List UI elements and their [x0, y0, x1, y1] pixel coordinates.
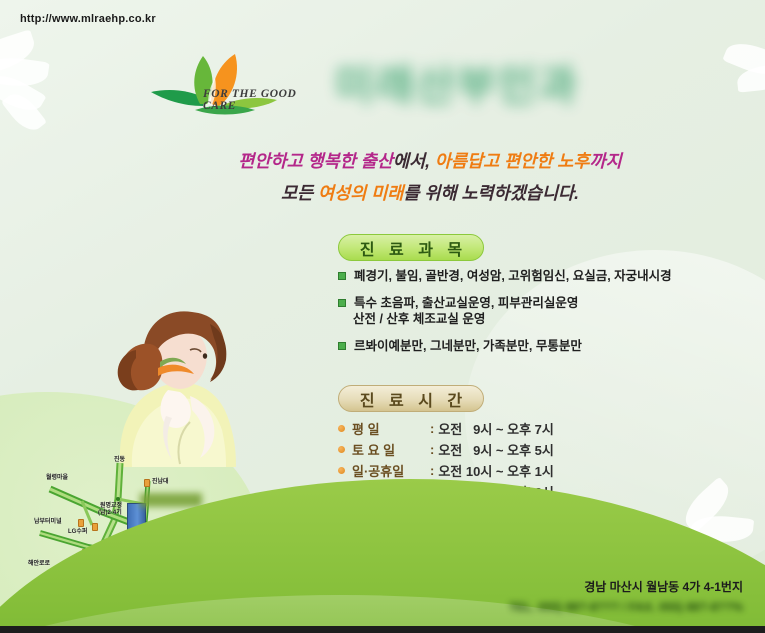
tagline-l1-c: 아름답고 편안한 노후 — [435, 151, 590, 171]
list-item: 르봐이예분만, 그네분만, 가족분만, 무통분만 — [338, 338, 748, 354]
map-label: (남)2·4기 — [98, 510, 122, 517]
leaf-decoration-icon — [0, 29, 39, 77]
departments-list: 폐경기, 불임, 골반경, 여성암, 고위험임신, 요실금, 자궁내시경 특수 … — [338, 268, 748, 365]
clinic-landing-page: http://www.mlraehp.co.kr FOR THE GOOD CA… — [0, 0, 765, 633]
hours-time-value: 오전 10시 ~ 오후 1시 — [438, 461, 554, 480]
tagline-line-2: 모든 여성의 미래를 위해 노력하겠습니다. — [200, 178, 660, 208]
leaf-decoration-icon — [1, 87, 47, 136]
hours-day-label: 일·공휴일 — [352, 461, 430, 480]
clinic-name-redacted: 미래산부인과 — [335, 55, 670, 110]
list-item: 평 일 : 오전 9시 ~ 오후 7시 — [338, 418, 638, 439]
map-pin-icon — [92, 523, 98, 531]
list-item: 일·공휴일 : 오전 10시 ~ 오후 1시 — [338, 460, 638, 481]
footer-phone-redacted: TEL. 055) 88?-8??? / FAX. 055) 88?-8??% — [509, 600, 743, 614]
map-label: 월령마을 — [46, 475, 68, 482]
bottom-border — [0, 626, 765, 633]
tagline-l1-a: 편안하고 행복한 출산 — [238, 151, 393, 171]
footer-address: 경남 마산시 월남동 4가 4-1번지 — [584, 578, 743, 595]
hours-time-value: 오전 9시 ~ 오후 7시 — [438, 419, 553, 438]
tagline-l2-c: 를 위해 노력하겠습니다. — [403, 183, 579, 203]
map-pin-icon — [144, 479, 150, 487]
hours-day-label: 평 일 — [352, 419, 430, 438]
departments-section-title: 진 료 과 목 — [338, 234, 484, 261]
hours-separator: : — [430, 421, 434, 436]
tagline-l1-b: 에서, — [393, 151, 430, 171]
hours-day-label: 토 요 일 — [352, 440, 430, 459]
map-label: 진동 — [114, 457, 125, 464]
tagline-l2-b: 여성의 미래 — [318, 183, 403, 203]
map-name-redacted — [140, 493, 202, 507]
list-item: 특수 초음파, 출산교실운영, 피부관리실운영 산전 / 산후 체조교실 운영 — [338, 295, 748, 327]
map-label: 원명교정 — [100, 503, 122, 510]
leaf-decoration-icon — [0, 67, 47, 119]
hours-section-title: 진 료 시 간 — [338, 385, 484, 412]
tagline-l2-a: 모든 — [281, 183, 313, 203]
dot-bullet-icon — [338, 446, 345, 453]
department-text: 르봐이예분만, 그네분만, 가족분만, 무통분만 — [354, 338, 582, 354]
department-text-line1: 특수 초음파, 출산교실운영, 피부관리실운영 — [354, 296, 578, 310]
square-bullet-icon — [338, 272, 346, 280]
square-bullet-icon — [338, 342, 346, 350]
mother-baby-icon — [72, 272, 292, 467]
department-text: 폐경기, 불임, 골반경, 여성암, 고위험임신, 요실금, 자궁내시경 — [354, 268, 672, 284]
logo-tagline: FOR THE GOOD CARE — [203, 88, 330, 112]
hours-time-value: 오전 9시 ~ 오후 5시 — [438, 440, 553, 459]
list-item: 폐경기, 불임, 골반경, 여성암, 고위험임신, 요실금, 자궁내시경 — [338, 268, 748, 284]
list-item: 토 요 일 : 오전 9시 ~ 오후 5시 — [338, 439, 638, 460]
tagline-line-1: 편안하고 행복한 출산에서, 아름답고 편안한 노후까지 — [200, 146, 660, 176]
clinic-logo: FOR THE GOOD CARE — [125, 48, 330, 120]
leaf-decoration-icon — [0, 54, 50, 91]
map-label: 남부터미널 — [34, 519, 62, 526]
map-label: LG수퍼 — [68, 529, 87, 536]
department-text-line2: 산전 / 산후 체조교실 운영 — [353, 311, 578, 327]
map-label: 해안로로 — [28, 561, 50, 568]
website-url: http://www.mlraehp.co.kr — [20, 13, 156, 25]
hours-separator: : — [430, 442, 434, 457]
dot-bullet-icon — [338, 425, 345, 432]
leaf-decoration-icon — [736, 63, 765, 92]
tagline-l1-d: 까지 — [589, 151, 621, 171]
hours-separator: : — [430, 463, 434, 478]
map-label: 진남대 — [152, 479, 169, 486]
dot-bullet-icon — [338, 467, 345, 474]
square-bullet-icon — [338, 299, 346, 307]
map-pin-icon — [78, 519, 84, 527]
leaf-decoration-icon — [722, 36, 765, 82]
mother-and-baby-illustration — [72, 272, 292, 467]
tagline-block: 편안하고 행복한 출산에서, 아름답고 편안한 노후까지 모든 여성의 미래를 … — [200, 146, 660, 208]
department-text: 특수 초음파, 출산교실운영, 피부관리실운영 산전 / 산후 체조교실 운영 — [354, 295, 578, 327]
